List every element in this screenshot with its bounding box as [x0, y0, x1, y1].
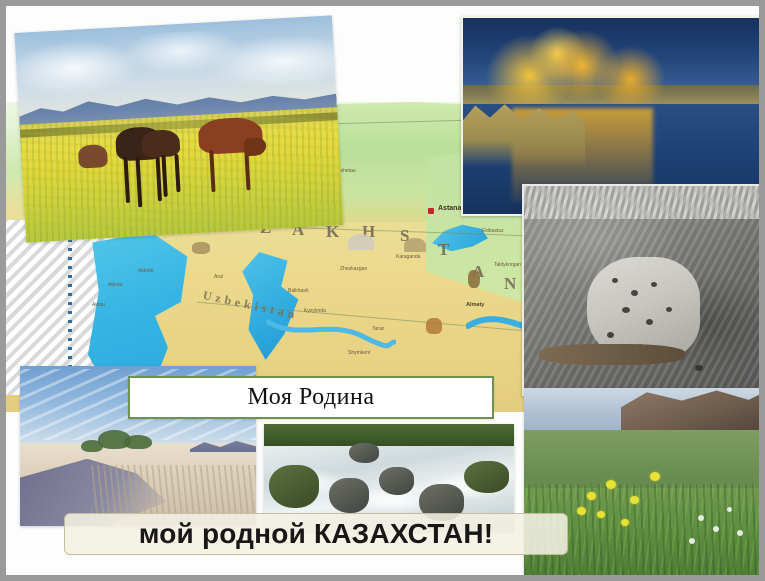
white-flower-5: [737, 530, 743, 536]
map-label-17: Aktau: [92, 302, 105, 308]
map-label-7: Atyrau: [108, 282, 122, 288]
boulder-2: [329, 478, 369, 513]
boulder-1: [269, 465, 319, 508]
leopard-spot-10: [695, 365, 703, 371]
white-flower-4: [689, 538, 695, 544]
leopard-spot-1: [612, 278, 618, 283]
leopard-spot-6: [666, 307, 672, 312]
shrub-3: [81, 440, 102, 453]
photo-snow-leopard-on-rock: [522, 184, 759, 396]
yellow-flower-3: [630, 496, 639, 504]
golden-trees: [481, 26, 683, 112]
map-letter-7: T: [438, 240, 449, 260]
leopard-spot-4: [622, 307, 630, 313]
banner-text: мой родной КАЗАХСТАН!: [139, 518, 494, 550]
boulder-6: [349, 443, 379, 462]
map-label-6: Aktobe: [138, 268, 154, 274]
map-label-8: Aral: [214, 274, 223, 280]
leopard-spot-3: [651, 282, 657, 287]
yellow-flower-5: [597, 511, 605, 518]
shrub-2: [124, 435, 152, 449]
bottom-banner: мой родной КАЗАХСТАН!: [64, 513, 568, 555]
map-label-19: Ekibastuz: [482, 228, 504, 234]
map-icon-camel: [426, 318, 442, 334]
horse-distant: [78, 144, 108, 169]
title-box: Моя Родина: [128, 376, 494, 419]
boulder-5: [464, 461, 509, 493]
field-texture: [20, 108, 344, 243]
yellow-flower-7: [621, 519, 629, 526]
map-label-16: Zhezkazgan: [340, 266, 367, 272]
map-label-14: Taldykorgan: [494, 262, 521, 268]
boulder-3: [379, 467, 414, 495]
map-label-12: Shymkent: [348, 350, 370, 356]
map-icon-yurt: [348, 234, 374, 250]
poster-frame: K A Z A K H S T A N Uzbekistan Astana Pe…: [0, 0, 765, 581]
yellow-flower-1: [587, 492, 596, 500]
rock-ledge: [539, 344, 685, 365]
astana-marker: [428, 208, 434, 214]
map-label-9: Kyzylorda: [304, 308, 326, 314]
map-label-15: Karaganda: [396, 254, 420, 260]
map-icon-yurt-2: [404, 238, 426, 252]
map-label-13: Almaty: [466, 302, 484, 308]
map-label-11: Taraz: [372, 326, 384, 332]
white-flower-1: [698, 515, 704, 521]
astana-label: Astana: [438, 205, 461, 212]
photo-horses-in-flowering-steppe: [14, 15, 343, 242]
map-icon-person: [468, 270, 480, 288]
title-text: Моя Родина: [248, 384, 375, 411]
leopard-spot-7: [607, 332, 614, 338]
white-flower-2: [713, 526, 719, 532]
map-label-10: Balkhash: [288, 288, 309, 294]
map-icon-horse: [192, 242, 210, 254]
map-letter-9: N: [504, 274, 516, 294]
collage-canvas: K A Z A K H S T A N Uzbekistan Astana Pe…: [6, 6, 759, 575]
